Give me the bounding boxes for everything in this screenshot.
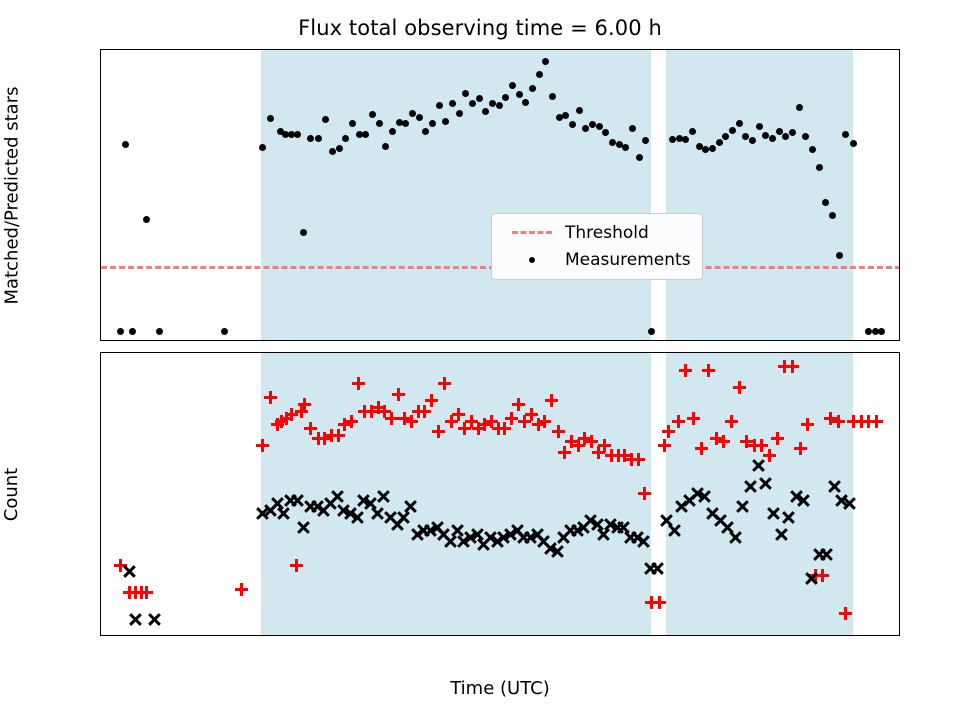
x-tick xyxy=(604,635,605,636)
figure-root: Flux total observing time = 6.00 h Match… xyxy=(0,0,960,720)
x-tick xyxy=(794,635,795,636)
x-tick xyxy=(223,340,224,341)
ratio-panel-y-axis-title: Matched/Predicted stars xyxy=(0,49,26,341)
x-tick xyxy=(890,340,891,341)
legend-label-threshold: Threshold xyxy=(561,223,649,243)
y-tick xyxy=(100,134,101,135)
chart-title: Flux total observing time = 6.00 h xyxy=(0,16,960,40)
x-tick xyxy=(318,635,319,636)
legend-label-measurements: Measurements xyxy=(561,250,691,270)
ratio-panel-axes: 0.00.51.01.52.0 Threshold Measurements xyxy=(100,49,900,341)
x-tick xyxy=(509,340,510,341)
x-tick xyxy=(604,340,605,341)
x-tick xyxy=(128,340,129,341)
y-tick xyxy=(100,200,101,201)
x-tick xyxy=(699,340,700,341)
y-tick xyxy=(100,548,101,549)
x-tick xyxy=(794,340,795,341)
ratio-panel-y-axis-title-text: Matched/Predicted stars xyxy=(2,86,23,304)
x-tick xyxy=(223,635,224,636)
count-panel-y-axis-title-text: Count xyxy=(2,467,23,520)
y-tick xyxy=(100,480,101,481)
x-tick xyxy=(128,635,129,636)
x-tick xyxy=(890,635,891,636)
count-panel-ticks: 2040608017:0018:0019:0020:0021:0022:0023… xyxy=(101,353,899,635)
y-tick xyxy=(100,266,101,267)
x-tick xyxy=(318,340,319,341)
x-tick xyxy=(413,635,414,636)
x-axis-title: Time (UTC) xyxy=(100,678,900,699)
ratio-panel-ticks: 0.00.51.01.52.0 xyxy=(101,50,899,340)
dot-marker-icon xyxy=(503,250,561,270)
x-tick xyxy=(413,340,414,341)
x-tick xyxy=(699,635,700,636)
x-tick xyxy=(509,635,510,636)
legend-entry-measurements: Measurements xyxy=(503,246,691,273)
legend-entry-threshold: Threshold xyxy=(503,219,691,246)
y-tick xyxy=(100,616,101,617)
ratio-panel-legend[interactable]: Threshold Measurements xyxy=(491,213,703,280)
count-panel-axes: 2040608017:0018:0019:0020:0021:0022:0023… xyxy=(100,352,900,636)
dashed-line-icon xyxy=(503,223,561,243)
y-tick xyxy=(100,331,101,332)
y-tick xyxy=(100,68,101,69)
count-panel-y-axis-title: Count xyxy=(0,352,26,636)
y-tick xyxy=(100,411,101,412)
